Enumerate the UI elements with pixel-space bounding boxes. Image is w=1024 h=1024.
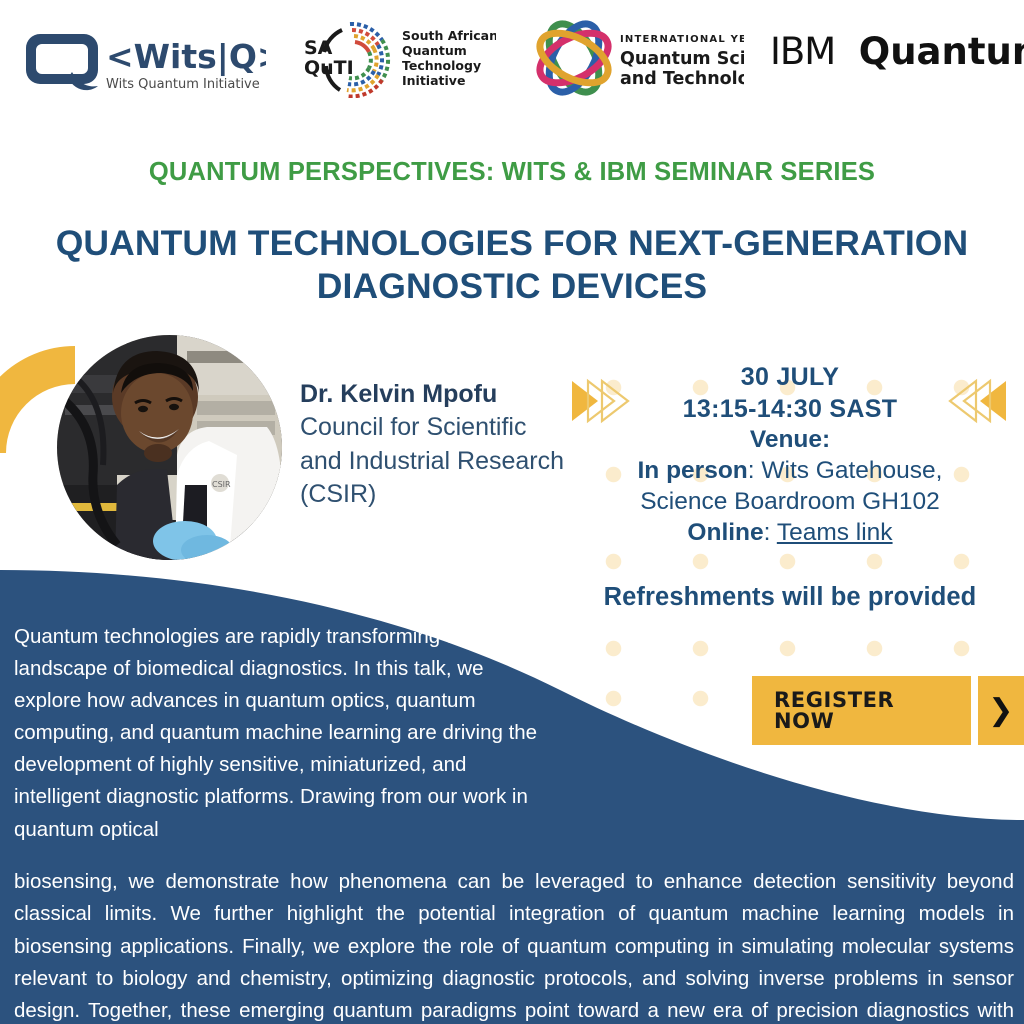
venue-online: Online: Teams link [570,518,1010,549]
saquti-logo: SA QuTI South African Quantum Technology… [296,18,496,98]
speaker-photo: CSIR [57,335,282,560]
series-title: QUANTUM PERSPECTIVES: WITS & IBM SEMINAR… [0,158,1024,187]
online-separator: : [764,519,777,546]
ibm-quantum-logo: IBM Quantum [770,30,1010,80]
svg-text:Technology: Technology [402,58,481,73]
event-details: 30 JULY 13:15-14:30 SAST Venue: In perso… [570,362,1010,548]
abstract-paragraph-narrow: Quantum technologies are rapidly transfo… [14,621,554,846]
ibm-mark: IBM [770,30,835,73]
svg-text:Quantum: Quantum [402,43,467,58]
abstract-block: Quantum technologies are rapidly transfo… [14,600,1014,1024]
abstract-paragraph-wide: biosensing, we demonstrate how phenomena… [14,866,1014,1024]
speaker-name: Dr. Kelvin Mpofu [300,378,570,411]
logo-bar: <Wits|Q> Wits Quantum Initiative [0,0,1024,110]
saquti-quti: QuTI [304,57,354,79]
online-label: Online [687,519,763,546]
svg-text:and Technology: and Technology [620,69,744,89]
seminar-poster: <Wits|Q> Wits Quantum Initiative [0,0,1024,1024]
svg-text:South African: South African [402,28,496,43]
wits-caption: Wits Quantum Initiative [106,77,260,92]
talk-title: QUANTUM TECHNOLOGIES FOR NEXT-GENERATION… [20,222,1004,309]
svg-text:INTERNATIONAL YEAR OF: INTERNATIONAL YEAR OF [620,34,744,45]
event-date: 30 JULY [570,362,1010,394]
svg-text:Initiative: Initiative [402,73,465,88]
svg-text:<Wits|Q>: <Wits|Q> [106,37,266,76]
venue-in-person: In person: Wits Gatehouse, [570,456,1010,487]
event-time: 13:15-14:30 SAST [570,394,1010,426]
saquti-sa: SA [304,37,333,59]
in-person-label: In person [638,457,748,484]
wits-quantum-initiative-logo: <Wits|Q> Wits Quantum Initiative [26,18,266,98]
speaker-photo-illustration: CSIR [57,335,282,560]
venue-room: Science Boardroom GH102 [570,487,1010,518]
speaker-affiliation: Council for Scientific and Industrial Re… [300,411,570,511]
venue-label: Venue: [570,425,1010,456]
iyq-logo: INTERNATIONAL YEAR OF Quantum Science an… [524,16,744,100]
in-person-value: : Wits Gatehouse, [748,457,943,484]
speaker-block: Dr. Kelvin Mpofu Council for Scientific … [300,378,570,511]
teams-link[interactable]: Teams link [777,519,893,546]
svg-text:Quantum Science: Quantum Science [620,49,744,69]
ibm-quantum-word: Quantum [859,30,1024,73]
svg-text:CSIR: CSIR [212,480,231,489]
